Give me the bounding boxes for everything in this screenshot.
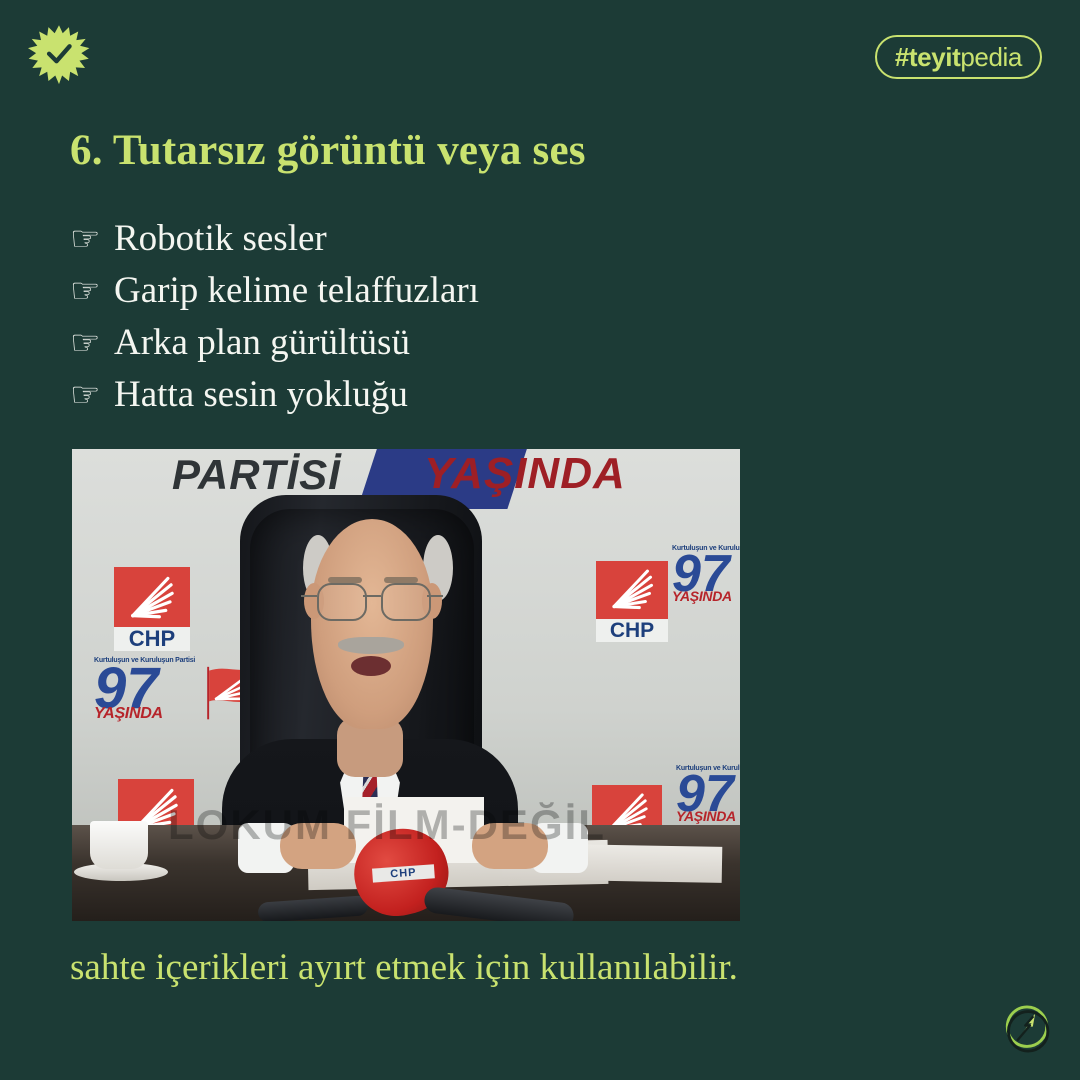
coffee-cup (90, 821, 148, 869)
glasses-temple-right (427, 595, 443, 597)
list-item: ☞ Robotik sesler (70, 213, 479, 265)
video-watermark: LOKUM FİLM-DEĞİL (168, 801, 606, 849)
slide-canvas: #teyitpedia 6. Tutarsız görüntü veya ses… (0, 0, 1080, 1080)
list-item: ☞ Arka plan gürültüsü (70, 317, 479, 369)
bullet-list: ☞ Robotik sesler ☞ Garip kelime telaffuz… (70, 213, 479, 421)
glasses-temple-left (301, 595, 317, 597)
glasses-bridge (363, 595, 381, 597)
list-item-label: Hatta sesin yokluğu (114, 369, 408, 421)
microphone-label: CHP (372, 864, 435, 882)
lens-left (317, 583, 367, 621)
list-item: ☞ Garip kelime telaffuzları (70, 265, 479, 317)
list-item-label: Arka plan gürültüsü (114, 317, 410, 369)
mouth (351, 656, 391, 676)
mustache (338, 637, 404, 654)
fast-forward-circle-icon (998, 1000, 1056, 1058)
list-item: ☞ Hatta sesin yokluğu (70, 369, 479, 421)
video-still-content: PARTİSİ YAŞINDA CHP (72, 449, 740, 921)
eyeglasses-icon (315, 583, 429, 623)
teyit-sunburst-check-icon (28, 24, 90, 86)
hashtag-badge-light: pedia (960, 42, 1022, 73)
hashtag-badge: #teyitpedia (875, 35, 1042, 79)
pointing-hand-icon: ☞ (70, 265, 114, 317)
pointing-hand-icon: ☞ (70, 369, 114, 421)
page-title: 6. Tutarsız görüntü veya ses (70, 126, 586, 175)
hashtag-badge-bold: #teyit (895, 42, 961, 73)
pointing-hand-icon: ☞ (70, 317, 114, 369)
video-still: PARTİSİ YAŞINDA CHP (72, 449, 740, 921)
list-item-label: Robotik sesler (114, 213, 327, 265)
head (311, 519, 433, 729)
lens-right (381, 583, 431, 621)
list-item-label: Garip kelime telaffuzları (114, 265, 479, 317)
caption-text: sahte içerikleri ayırt etmek için kullan… (70, 946, 738, 989)
pointing-hand-icon: ☞ (70, 213, 114, 265)
